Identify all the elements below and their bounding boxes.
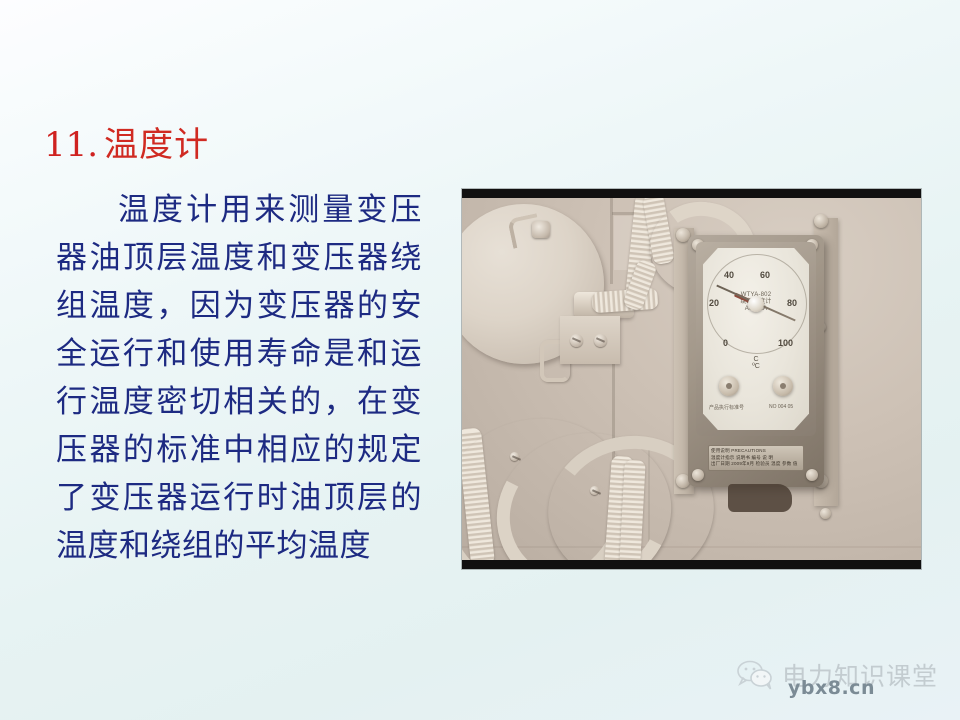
watermark: 电力知识课堂 ybx8.cn xyxy=(730,655,950,703)
dial-tick-40: 40 xyxy=(724,270,734,280)
housing-bolt xyxy=(806,469,818,481)
gauge-serial-label: NO 004 05 xyxy=(769,404,793,410)
gauge-dial-face: 20 40 60 80 0 100 WTYA-802 绕组温度计 AOBJIA xyxy=(703,248,809,430)
slide-canvas: 油浸式电力变压器的结构 11.温度计 温度计用来测量变压器油顶层温度和变压器绕组… xyxy=(0,0,960,720)
screw xyxy=(594,334,607,347)
gauge-adjust-knob-left[interactable] xyxy=(719,376,739,396)
section-heading: 11.温度计 xyxy=(44,117,209,166)
thermometer-photo: 20 40 60 80 0 100 WTYA-802 绕组温度计 AOBJIA xyxy=(462,189,921,569)
housing-bolt xyxy=(692,469,704,481)
mounting-plate xyxy=(560,316,620,364)
section-number: 11. xyxy=(44,125,98,165)
gauge-adjust-knob-right[interactable] xyxy=(773,376,793,396)
section-title: 温度计 xyxy=(104,125,209,165)
photo-content: 20 40 60 80 0 100 WTYA-802 绕组温度计 AOBJIA xyxy=(462,198,921,560)
gauge-unit-block: C ºC xyxy=(703,356,809,370)
wechat-icon xyxy=(736,659,776,691)
dial-tick-60: 60 xyxy=(760,270,770,280)
slide-title-bar: 油浸式电力变压器的结构 xyxy=(0,24,960,75)
gauge-nameplate: 使用说明 PRECAUTIONS 温度计指示 说明书 编号 说 明 出厂日期 2… xyxy=(708,445,804,471)
watermark-url: ybx8.cn xyxy=(788,677,875,699)
bracket-bolt xyxy=(814,214,828,228)
wall-seam xyxy=(610,198,613,284)
body-paragraph: 温度计用来测量变压器油顶层温度和变压器绕组温度，因为变压器的安全运行和使用寿命是… xyxy=(56,186,422,570)
cable-gland-shadow xyxy=(728,484,792,512)
dial-tick-0: 0 xyxy=(723,338,728,348)
junction-box-bolt xyxy=(532,221,550,238)
nameplate-line-3: 出厂日期 2009年9月 检验员 温度 参数 值 xyxy=(711,461,801,468)
gauge-needle-hub xyxy=(748,296,764,312)
dial-tick-100: 100 xyxy=(778,338,793,348)
cable-tie xyxy=(510,452,519,461)
gauge-bezel: 20 40 60 80 0 100 WTYA-802 绕组温度计 AOBJIA xyxy=(696,242,816,436)
thermometer-housing: 20 40 60 80 0 100 WTYA-802 绕组温度计 AOBJIA xyxy=(688,235,824,487)
gauge-unit-sub: ºC xyxy=(703,363,809,370)
bracket-bolt xyxy=(820,508,831,519)
page-title: 油浸式电力变压器的结构 xyxy=(276,24,683,75)
gauge-standard-label: 产品执行标准号 xyxy=(709,404,744,411)
cable-tie xyxy=(590,486,599,495)
screw xyxy=(570,334,583,347)
gauge-unit-symbol: C xyxy=(703,356,809,363)
